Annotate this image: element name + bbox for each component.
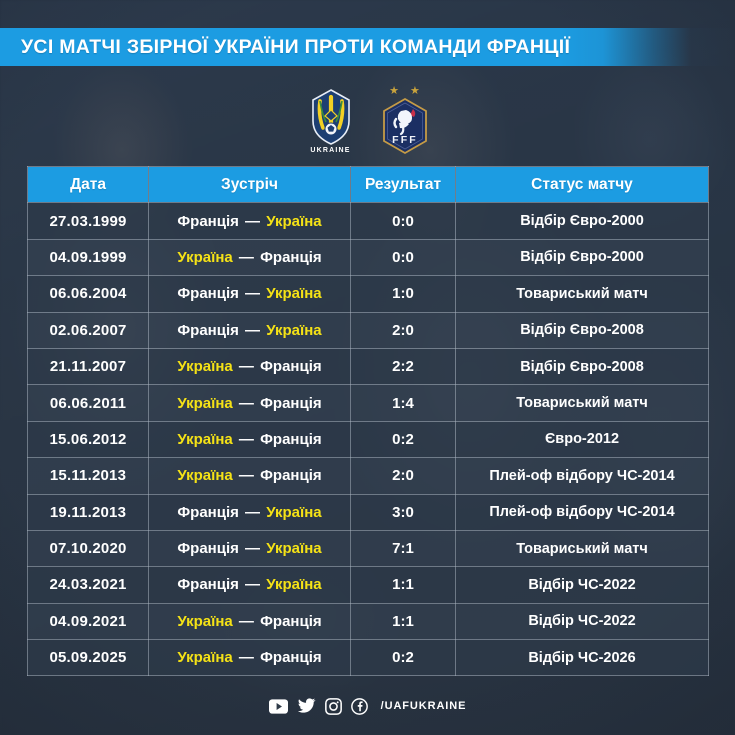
ukraine-federation-logo bbox=[305, 88, 357, 146]
table-row: 27.03.1999Франція — Україна0:0Відбір Євр… bbox=[28, 203, 709, 239]
column-header-result[interactable]: Результат bbox=[351, 167, 456, 203]
cell-match: Україна — Франція bbox=[149, 348, 351, 384]
match-away-team: Україна bbox=[266, 540, 321, 557]
cell-result: 0:2 bbox=[351, 421, 456, 457]
cell-status: Товариський матч bbox=[456, 276, 709, 312]
column-header-match[interactable]: Зустріч bbox=[149, 167, 351, 203]
cell-date: 21.11.2007 bbox=[28, 348, 149, 384]
fff-federation-logo: FFF bbox=[379, 97, 431, 155]
cell-date: 05.09.2025 bbox=[28, 640, 149, 676]
match-home-team: Україна bbox=[177, 358, 232, 375]
cell-date: 19.11.2013 bbox=[28, 494, 149, 530]
cell-match: Україна — Франція bbox=[149, 385, 351, 421]
match-home-team: Франція bbox=[177, 540, 239, 557]
match-home-team: Україна bbox=[177, 649, 232, 666]
cell-status: Товариський матч bbox=[456, 530, 709, 566]
cell-result: 0:0 bbox=[351, 239, 456, 275]
ukraine-logo-caption: UKRAINE bbox=[310, 147, 350, 154]
table-row: 19.11.2013Франція — Україна3:0Плей-оф ві… bbox=[28, 494, 709, 530]
federation-logos: UKRAINE ★ ★ FFF bbox=[0, 80, 735, 162]
star-icon: ★ bbox=[410, 87, 420, 96]
match-separator: — bbox=[239, 213, 266, 230]
match-away-team: Франція bbox=[260, 613, 322, 630]
table-row: 05.09.2025Україна — Франція0:2Відбір ЧС-… bbox=[28, 640, 709, 676]
title-banner: УСІ МАТЧІ ЗБІРНОЇ УКРАЇНИ ПРОТИ КОМАНДИ … bbox=[0, 28, 735, 66]
table-row: 06.06.2004Франція — Україна1:0Товариськи… bbox=[28, 276, 709, 312]
match-home-team: Франція bbox=[177, 322, 239, 339]
cell-result: 1:0 bbox=[351, 276, 456, 312]
cell-match: Франція — Україна bbox=[149, 312, 351, 348]
cell-date: 15.06.2012 bbox=[28, 421, 149, 457]
cell-result: 2:2 bbox=[351, 348, 456, 384]
match-separator: — bbox=[233, 249, 260, 266]
match-away-team: Україна bbox=[266, 322, 321, 339]
cell-status: Відбір ЧС-2022 bbox=[456, 603, 709, 639]
cell-date: 02.06.2007 bbox=[28, 312, 149, 348]
cell-status: Відбір Євро-2008 bbox=[456, 348, 709, 384]
cell-status: Відбір ЧС-2022 bbox=[456, 567, 709, 603]
match-away-team: Франція bbox=[260, 358, 322, 375]
facebook-icon[interactable] bbox=[351, 698, 368, 715]
cell-status: Плей-оф відбору ЧС-2014 bbox=[456, 494, 709, 530]
table-row: 07.10.2020Франція — Україна7:1Товариськи… bbox=[28, 530, 709, 566]
social-footer: /UAFUKRAINE bbox=[0, 688, 735, 724]
page-title: УСІ МАТЧІ ЗБІРНОЇ УКРАЇНИ ПРОТИ КОМАНДИ … bbox=[0, 36, 570, 59]
match-separator: — bbox=[233, 649, 260, 666]
cell-status: Відбір Євро-2000 bbox=[456, 203, 709, 239]
instagram-icon[interactable] bbox=[325, 698, 342, 715]
cell-result: 1:1 bbox=[351, 603, 456, 639]
table-row: 15.11.2013Україна — Франція2:0Плей-оф ві… bbox=[28, 458, 709, 494]
match-away-team: Франція bbox=[260, 395, 322, 412]
matches-table: Дата Зустріч Результат Статус матчу 27.0… bbox=[27, 166, 709, 676]
cell-result: 1:1 bbox=[351, 567, 456, 603]
cell-match: Франція — Україна bbox=[149, 276, 351, 312]
match-separator: — bbox=[233, 467, 260, 484]
match-away-team: Франція bbox=[260, 649, 322, 666]
cell-result: 3:0 bbox=[351, 494, 456, 530]
match-separator: — bbox=[239, 576, 266, 593]
match-home-team: Україна bbox=[177, 467, 232, 484]
table-row: 06.06.2011Україна — Франція1:4Товариськи… bbox=[28, 385, 709, 421]
cell-date: 27.03.1999 bbox=[28, 203, 149, 239]
match-away-team: Україна bbox=[266, 285, 321, 302]
cell-match: Україна — Франція bbox=[149, 458, 351, 494]
match-home-team: Україна bbox=[177, 431, 232, 448]
youtube-icon[interactable] bbox=[269, 699, 288, 714]
cell-status: Відбір Євро-2000 bbox=[456, 239, 709, 275]
cell-match: Франція — Україна bbox=[149, 567, 351, 603]
match-home-team: Франція bbox=[177, 213, 239, 230]
match-separator: — bbox=[239, 540, 266, 557]
table-row: 02.06.2007Франція — Україна2:0Відбір Євр… bbox=[28, 312, 709, 348]
cell-date: 04.09.2021 bbox=[28, 603, 149, 639]
match-home-team: Франція bbox=[177, 285, 239, 302]
cell-result: 0:2 bbox=[351, 640, 456, 676]
cell-date: 04.09.1999 bbox=[28, 239, 149, 275]
table-row: 24.03.2021Франція — Україна1:1Відбір ЧС-… bbox=[28, 567, 709, 603]
match-separator: — bbox=[233, 613, 260, 630]
table-row: 21.11.2007Україна — Франція2:2Відбір Євр… bbox=[28, 348, 709, 384]
match-home-team: Україна bbox=[177, 249, 232, 266]
cell-date: 06.06.2011 bbox=[28, 385, 149, 421]
match-away-team: Україна bbox=[266, 576, 321, 593]
france-logo-block: ★ ★ FFF bbox=[379, 87, 431, 155]
match-away-team: Україна bbox=[266, 504, 321, 521]
table-row: 15.06.2012Україна — Франція0:2Євро-2012 bbox=[28, 421, 709, 457]
match-home-team: Франція bbox=[177, 504, 239, 521]
star-icon: ★ bbox=[389, 87, 399, 96]
twitter-icon[interactable] bbox=[297, 698, 316, 714]
match-separator: — bbox=[239, 322, 266, 339]
match-home-team: Франція bbox=[177, 576, 239, 593]
match-separator: — bbox=[233, 395, 260, 412]
cell-date: 07.10.2020 bbox=[28, 530, 149, 566]
ukraine-logo-block: UKRAINE bbox=[305, 88, 357, 154]
cell-result: 2:0 bbox=[351, 458, 456, 494]
match-away-team: Україна bbox=[266, 213, 321, 230]
cell-match: Україна — Франція bbox=[149, 239, 351, 275]
cell-match: Україна — Франція bbox=[149, 640, 351, 676]
table-body: 27.03.1999Франція — Україна0:0Відбір Євр… bbox=[28, 203, 709, 676]
cell-status: Відбір ЧС-2026 bbox=[456, 640, 709, 676]
cell-status: Товариський матч bbox=[456, 385, 709, 421]
match-away-team: Франція bbox=[260, 467, 322, 484]
match-home-team: Україна bbox=[177, 613, 232, 630]
cell-result: 1:4 bbox=[351, 385, 456, 421]
match-separator: — bbox=[239, 285, 266, 302]
cell-status: Плей-оф відбору ЧС-2014 bbox=[456, 458, 709, 494]
table-header-row: Дата Зустріч Результат Статус матчу bbox=[28, 167, 709, 203]
svg-text:FFF: FFF bbox=[392, 134, 418, 146]
match-home-team: Україна bbox=[177, 395, 232, 412]
table-header: Дата Зустріч Результат Статус матчу bbox=[28, 167, 709, 203]
match-separator: — bbox=[239, 504, 266, 521]
cell-date: 06.06.2004 bbox=[28, 276, 149, 312]
match-separator: — bbox=[233, 358, 260, 375]
social-handle: /UAFUKRAINE bbox=[381, 700, 467, 712]
cell-result: 2:0 bbox=[351, 312, 456, 348]
cell-match: Україна — Франція bbox=[149, 603, 351, 639]
match-separator: — bbox=[233, 431, 260, 448]
match-away-team: Франція bbox=[260, 431, 322, 448]
match-away-team: Франція bbox=[260, 249, 322, 266]
table-row: 04.09.2021Україна — Франція1:1Відбір ЧС-… bbox=[28, 603, 709, 639]
cell-result: 0:0 bbox=[351, 203, 456, 239]
cell-date: 15.11.2013 bbox=[28, 458, 149, 494]
cell-date: 24.03.2021 bbox=[28, 567, 149, 603]
fff-stars: ★ ★ bbox=[389, 87, 420, 96]
table-row: 04.09.1999Україна — Франція0:0Відбір Євр… bbox=[28, 239, 709, 275]
cell-match: Франція — Україна bbox=[149, 530, 351, 566]
cell-match: Україна — Франція bbox=[149, 421, 351, 457]
column-header-date[interactable]: Дата bbox=[28, 167, 149, 203]
column-header-status[interactable]: Статус матчу bbox=[456, 167, 709, 203]
cell-match: Франція — Україна bbox=[149, 203, 351, 239]
cell-match: Франція — Україна bbox=[149, 494, 351, 530]
cell-status: Відбір Євро-2008 bbox=[456, 312, 709, 348]
cell-status: Євро-2012 bbox=[456, 421, 709, 457]
cell-result: 7:1 bbox=[351, 530, 456, 566]
